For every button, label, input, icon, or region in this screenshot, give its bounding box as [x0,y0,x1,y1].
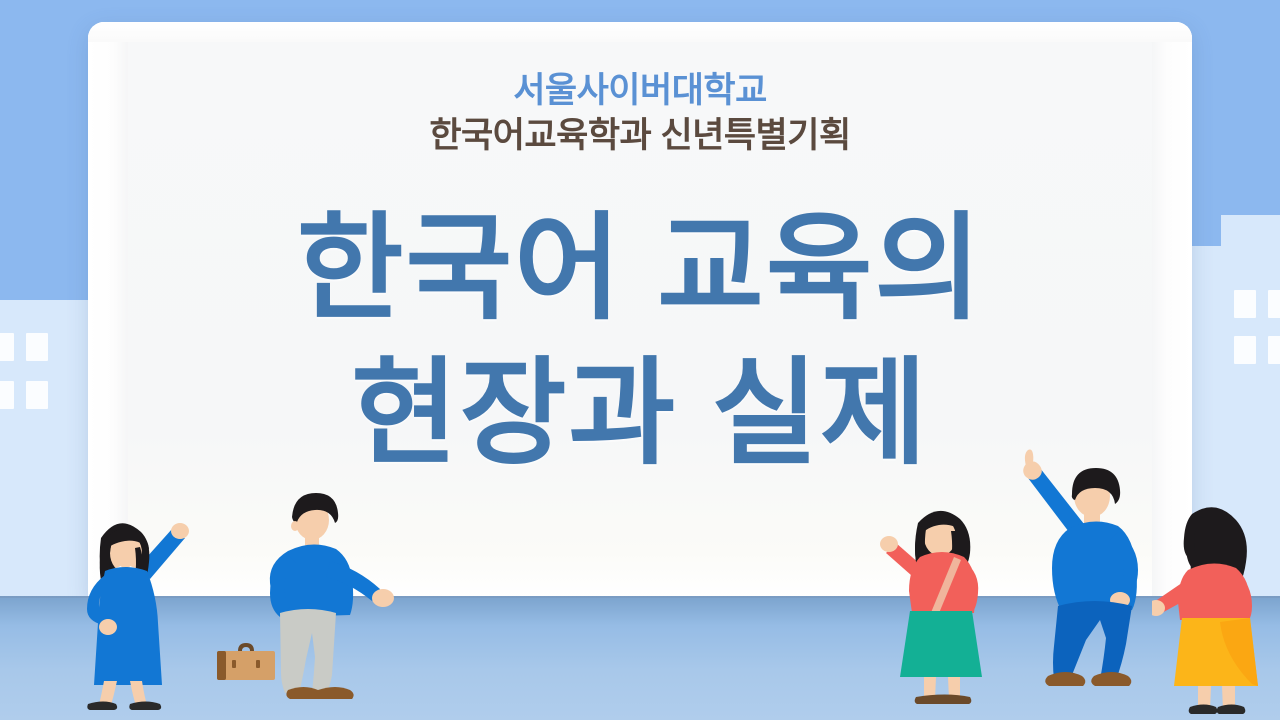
man-blue-sweater-figure [270,493,394,699]
poster-canvas: 서울사이버대학교 한국어교육학과 신년특별기획 한국어 교육의 현장과 실제 [0,0,1280,720]
left-hand [99,619,117,635]
index-finger [1025,450,1033,467]
man-blue-suit-figure [1023,450,1138,687]
shoe-left [87,702,117,711]
person-woman-blue-dress [68,505,198,710]
shoe-right [129,702,161,711]
raised-hand [171,523,189,539]
ear [291,521,299,531]
building-right-window-2 [1268,290,1280,318]
shoe-left [1189,705,1218,715]
main-title-line-1: 한국어 교육의 [128,196,1152,341]
main-title-line-2: 현장과 실제 [128,341,1152,486]
briefcase [212,640,280,688]
woman-coral-teal-figure [880,511,982,704]
building-right-window-3 [1234,336,1256,364]
shoe-right [1091,672,1131,686]
briefcase-latch-2 [256,660,260,668]
briefcase-edge [217,651,226,680]
person-woman-coral-teal [876,495,1006,710]
briefcase-latch-1 [232,660,236,668]
teal-skirt [900,611,982,677]
person-man-blue-sweater [258,485,408,710]
person-woman-coral-yellow [1152,498,1280,720]
header-text-block: 서울사이버대학교 한국어교육학과 신년특별기획 [128,70,1152,158]
building-right-tower [1221,215,1280,260]
building-left-window-3 [0,381,14,409]
building-left-window-1 [0,333,14,361]
trousers [1053,601,1132,680]
waving-hand [880,536,898,552]
shoes [915,695,972,705]
woman-blue-dress-figure [87,523,189,710]
whiteboard-top-bevel [88,22,1192,42]
university-name: 서울사이버대학교 [128,70,1152,111]
shoe-left [1045,672,1085,686]
building-left-window-2 [26,333,48,361]
building-right-window-4 [1268,336,1280,364]
extended-hand [372,589,394,607]
building-left-window-4 [26,381,48,409]
building-right-window-1 [1234,290,1256,318]
shoe-right [1217,705,1246,715]
woman-coral-yellow-figure [1152,507,1258,714]
briefcase-handle [238,643,254,651]
department-subtitle: 한국어교육학과 신년특별기획 [128,115,1152,158]
main-title-block: 한국어 교육의 현장과 실제 [128,196,1152,486]
pants [280,609,336,693]
person-man-blue-suit-pointing [1020,440,1165,710]
